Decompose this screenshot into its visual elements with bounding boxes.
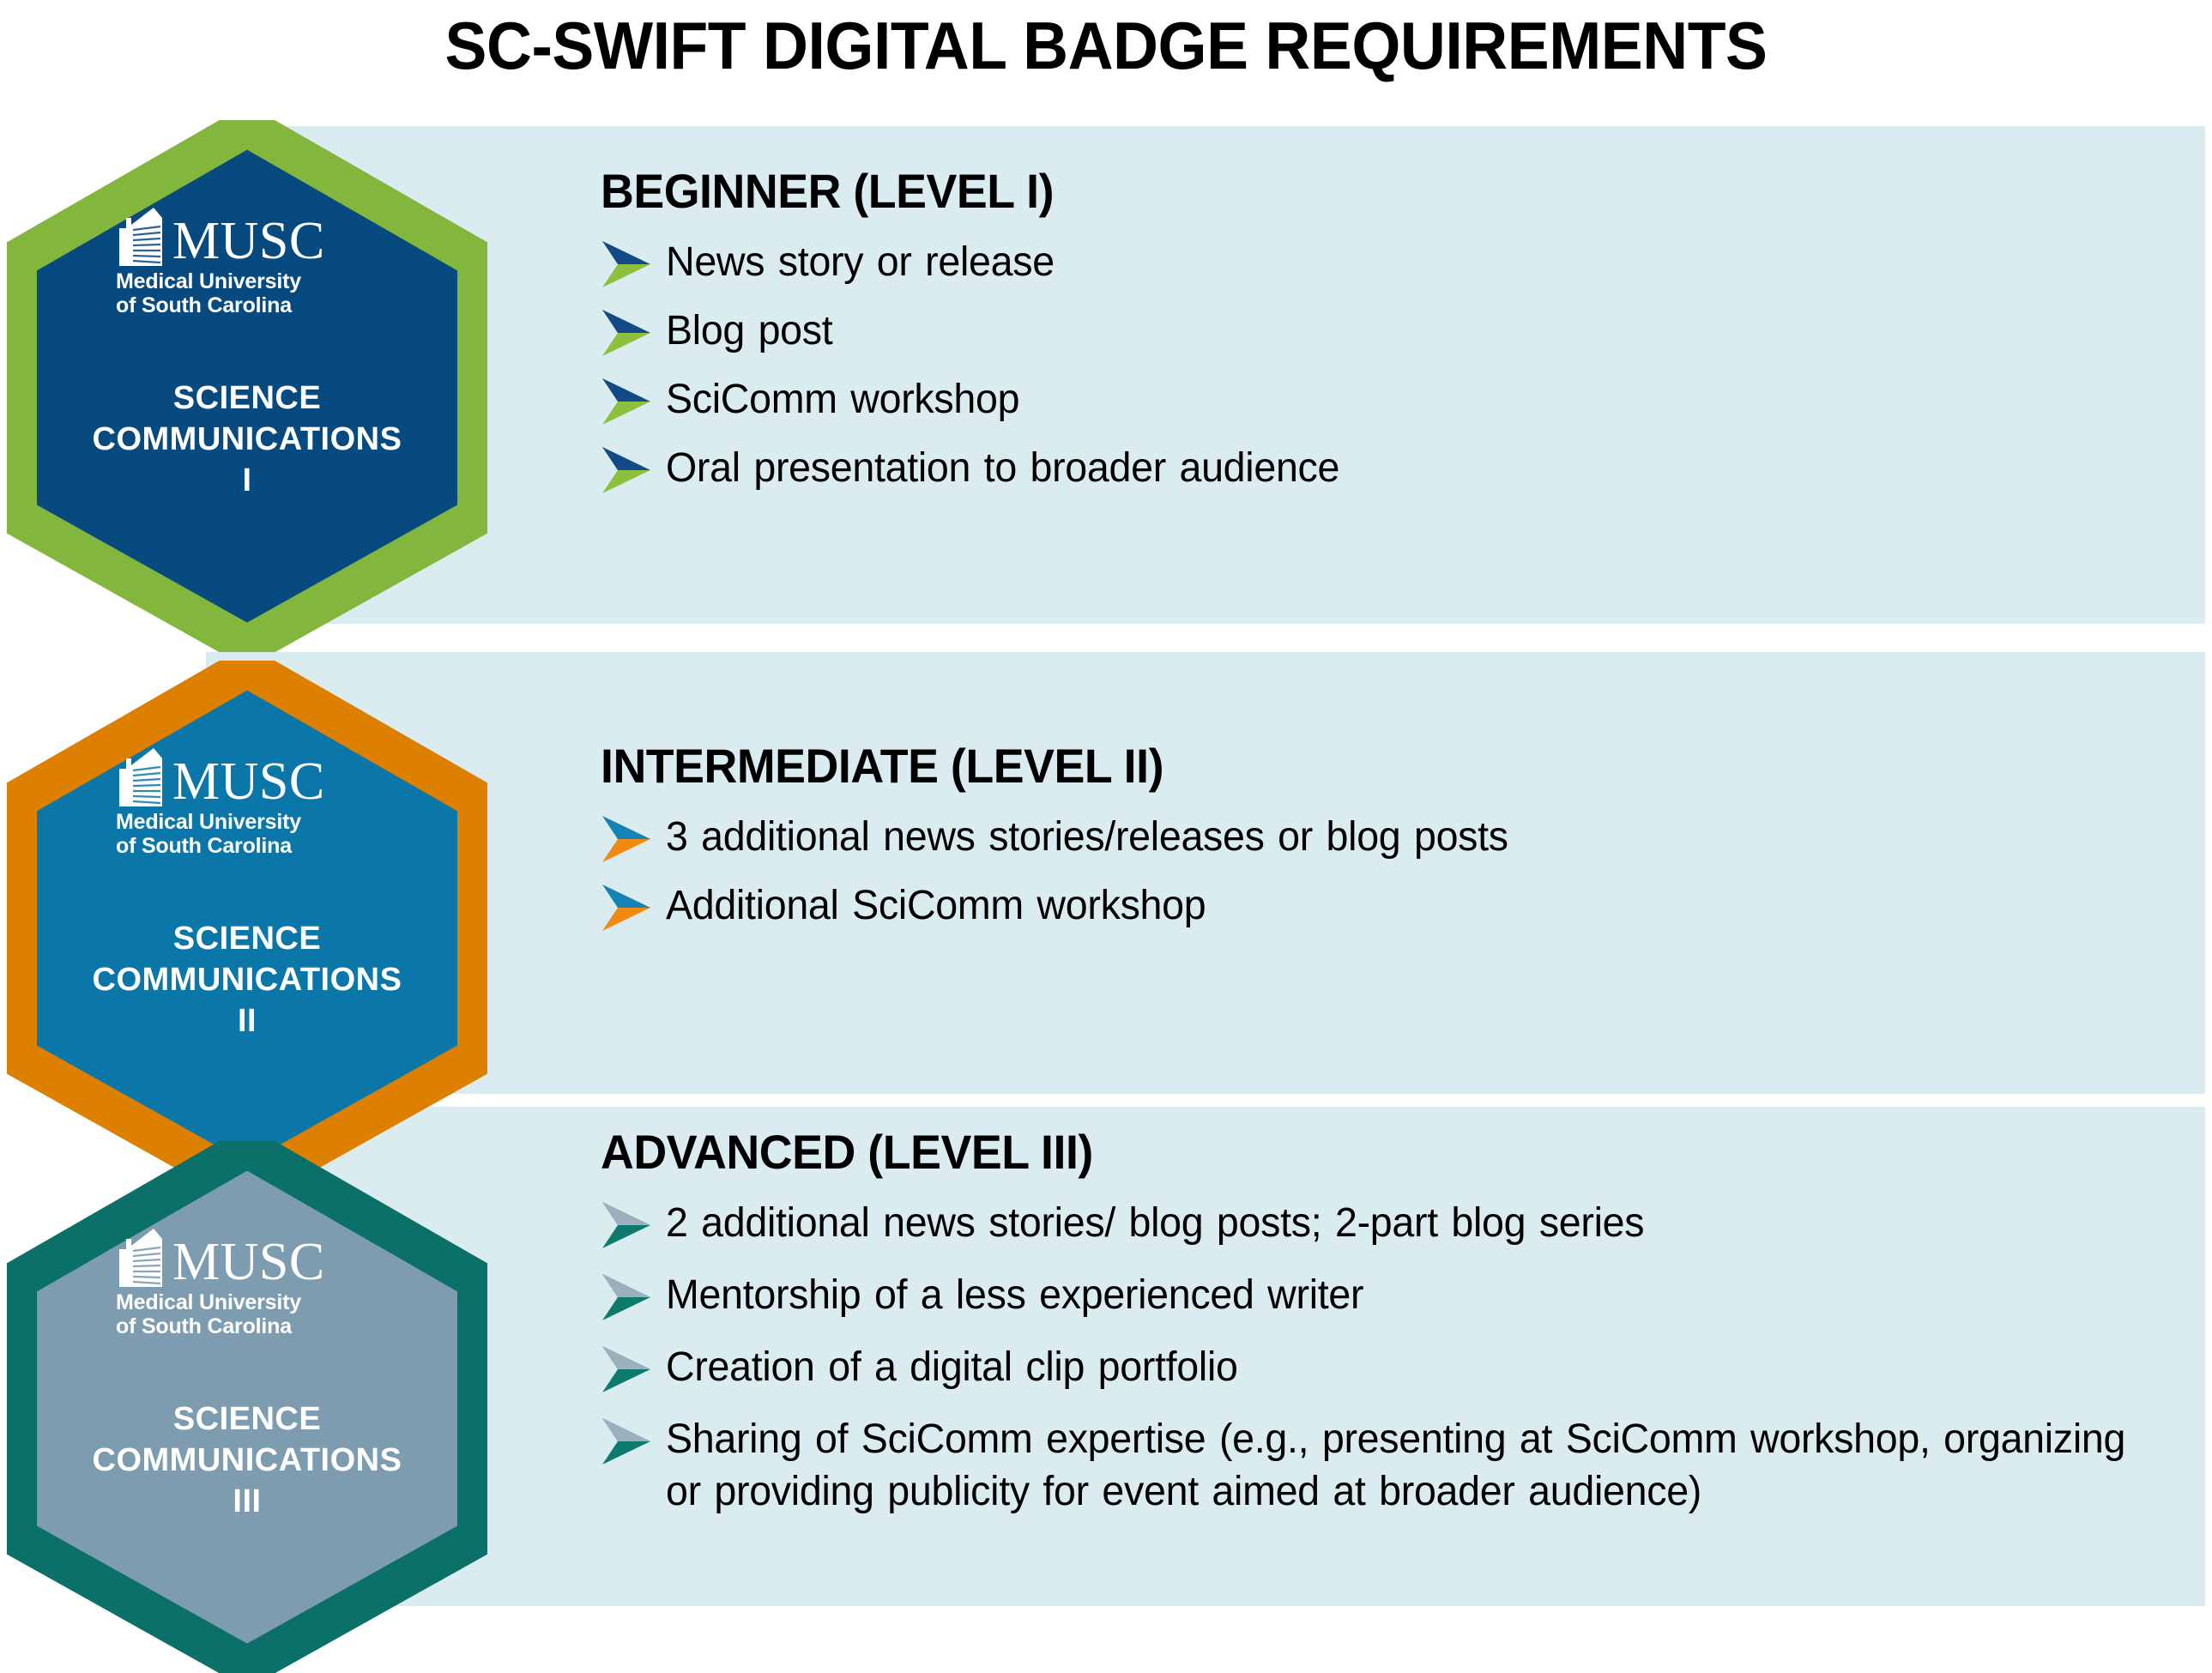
requirement-text: Creation of a digital clip portfolio xyxy=(666,1339,1238,1393)
arrow-bullet-icon xyxy=(601,881,654,934)
requirement-text: Oral presentation to broader audience xyxy=(666,440,1339,494)
requirement-item: Creation of a digital clip portfolio xyxy=(601,1339,2197,1396)
level-section-intermediate: INTERMEDIATE (LEVEL II) 3 additional new… xyxy=(601,738,2179,946)
level-section-beginner: BEGINNER (LEVEL I) News story or release… xyxy=(601,163,2179,509)
arrow-bullet-icon xyxy=(601,1415,654,1468)
arrow-bullet-icon xyxy=(601,375,654,428)
requirement-item: 3 additional news stories/releases or bl… xyxy=(601,809,2179,866)
badge-science-communications-iii[interactable]: MUSC Medical University of South Carolin… xyxy=(7,1141,487,1673)
hexagon-outline xyxy=(17,1148,477,1666)
level-section-advanced: ADVANCED (LEVEL III) 2 additional news s… xyxy=(601,1124,2197,1534)
requirement-text: Blog post xyxy=(666,303,832,357)
level-heading-beginner: BEGINNER (LEVEL I) xyxy=(601,163,2116,219)
requirement-list-intermediate: 3 additional news stories/releases or bl… xyxy=(601,809,2179,934)
requirement-list-advanced: 2 additional news stories/ blog posts; 2… xyxy=(601,1195,2197,1519)
arrow-bullet-icon xyxy=(601,238,654,291)
requirement-item: Additional SciComm workshop xyxy=(601,878,2179,934)
requirement-list-beginner: News story or release Blog post SciComm … xyxy=(601,234,2179,497)
level-heading-advanced: ADVANCED (LEVEL III) xyxy=(601,1124,2133,1180)
arrow-bullet-icon xyxy=(601,1199,654,1252)
requirement-text: Sharing of SciComm expertise (e.g., pres… xyxy=(666,1411,2150,1519)
requirement-item: SciComm workshop xyxy=(601,371,2179,428)
hexagon-outline xyxy=(17,127,477,645)
requirement-item: 2 additional news stories/ blog posts; 2… xyxy=(601,1195,2197,1252)
requirement-item: Blog post xyxy=(601,303,2179,359)
arrow-bullet-icon xyxy=(601,306,654,359)
requirement-item: Oral presentation to broader audience xyxy=(601,440,2179,497)
hexagon-outline xyxy=(17,667,477,1186)
hexagon-shape xyxy=(7,661,487,1193)
arrow-bullet-icon xyxy=(601,444,654,497)
hexagon-shape xyxy=(7,1141,487,1673)
page-title: SC-SWIFT DIGITAL BADGE REQUIREMENTS xyxy=(66,7,2145,85)
badge-science-communications-ii[interactable]: MUSC Medical University of South Carolin… xyxy=(7,661,487,1193)
requirement-text: 2 additional news stories/ blog posts; 2… xyxy=(666,1195,1644,1249)
arrow-bullet-icon xyxy=(601,812,654,866)
hexagon-shape xyxy=(7,120,487,652)
requirement-text: 3 additional news stories/releases or bl… xyxy=(666,809,1508,863)
level-heading-intermediate: INTERMEDIATE (LEVEL II) xyxy=(601,738,2116,794)
requirement-text: Additional SciComm workshop xyxy=(666,878,1206,932)
requirement-text: Mentorship of a less experienced writer xyxy=(666,1267,1363,1321)
requirement-item: News story or release xyxy=(601,234,2179,291)
requirement-text: News story or release xyxy=(666,234,1055,288)
requirement-text: SciComm workshop xyxy=(666,371,1019,426)
requirement-item: Mentorship of a less experienced writer xyxy=(601,1267,2197,1324)
badge-science-communications-i[interactable]: MUSC Medical University of South Carolin… xyxy=(7,120,487,652)
arrow-bullet-icon xyxy=(601,1343,654,1396)
requirement-item: Sharing of SciComm expertise (e.g., pres… xyxy=(601,1411,2197,1519)
arrow-bullet-icon xyxy=(601,1271,654,1324)
